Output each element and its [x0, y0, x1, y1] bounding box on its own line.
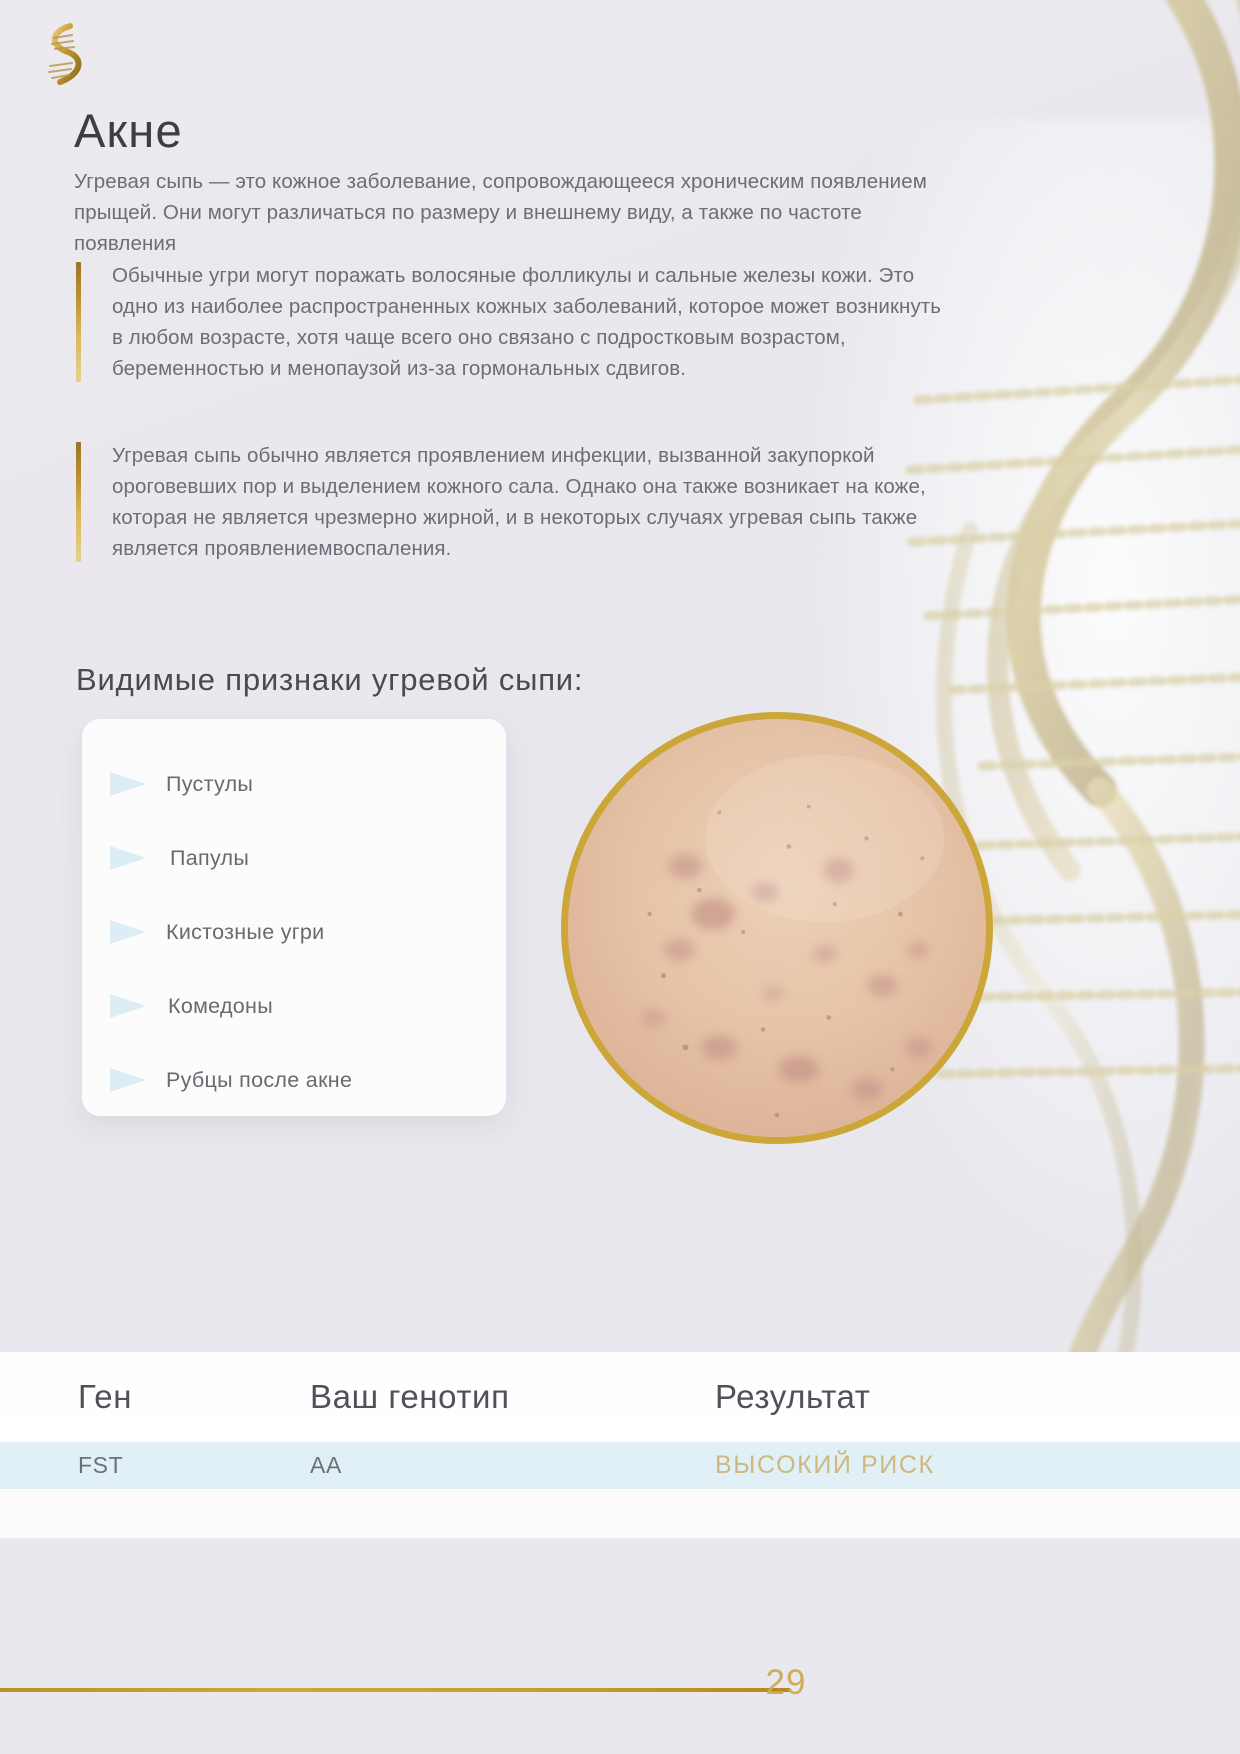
quote-text-1: Обычные угри могут поражать волосяные фо… — [112, 260, 956, 384]
page-title: Акне — [74, 105, 183, 157]
table-bottom-band — [0, 1502, 1240, 1538]
signs-list: Пустулы Папулы Кистозные угри Комедоны — [82, 719, 506, 1116]
list-item: Рубцы после акне — [108, 1043, 506, 1117]
triangle-right-icon — [108, 771, 148, 797]
acne-skin-closeup-photo — [561, 712, 993, 1144]
table-header-gene: Ген — [0, 1378, 310, 1416]
table-header-row: Ген Ваш генотип Результат — [0, 1352, 1240, 1442]
signs-section-heading: Видимые признаки угревой сыпи: — [76, 662, 583, 698]
list-item-label: Рубцы после акне — [166, 1068, 352, 1093]
report-page: Акне Угревая сыпь — это кожное заболеван… — [0, 0, 1240, 1754]
skin-photo-inner — [568, 719, 986, 1137]
list-item: Папулы — [108, 821, 506, 895]
visible-signs-card: Пустулы Папулы Кистозные угри Комедоны — [82, 719, 506, 1116]
table-cell-genotype: AA — [310, 1452, 715, 1479]
status-badge: ВЫСОКИЙ РИСК — [715, 1451, 1240, 1480]
list-item-label: Пустулы — [166, 772, 253, 797]
table-header-genotype: Ваш генотип — [310, 1378, 715, 1416]
table-header-result: Результат — [715, 1378, 1240, 1416]
quote-block-2: Угревая сыпь обычно является проявлением… — [76, 440, 956, 564]
gold-accent-bar — [76, 262, 81, 382]
list-item: Комедоны — [108, 969, 506, 1043]
table-row: FST AA ВЫСОКИЙ РИСК — [0, 1442, 1240, 1489]
table-cell-gene: FST — [0, 1452, 310, 1479]
list-item: Кистозные угри — [108, 895, 506, 969]
results-table: Ген Ваш генотип Результат FST AA ВЫСОКИЙ… — [0, 1352, 1240, 1502]
list-item: Пустулы — [108, 747, 506, 821]
gold-accent-bar — [76, 442, 81, 562]
list-item-label: Комедоны — [166, 994, 273, 1019]
triangle-right-icon — [108, 919, 148, 945]
quote-text-2: Угревая сыпь обычно является проявлением… — [112, 440, 956, 564]
quote-block-1: Обычные угри могут поражать волосяные фо… — [76, 260, 956, 384]
triangle-right-icon — [108, 845, 148, 871]
triangle-right-icon — [108, 993, 148, 1019]
dna-helix-logo-icon — [40, 22, 86, 88]
list-item-label: Кистозные угри — [166, 920, 324, 945]
footer-gold-rule — [0, 1688, 790, 1692]
page-number: 29 — [736, 1663, 836, 1703]
list-item-label: Папулы — [166, 846, 249, 871]
triangle-right-icon — [108, 1067, 148, 1093]
intro-paragraph: Угревая сыпь — это кожное заболевание, с… — [74, 166, 954, 259]
